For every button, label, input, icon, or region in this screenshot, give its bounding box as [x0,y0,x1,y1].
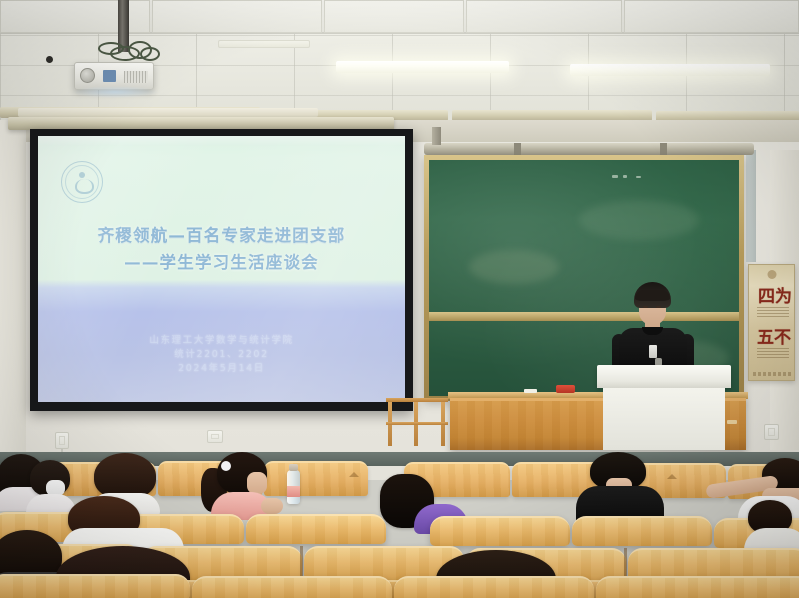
light-switch [764,424,779,440]
bench-desk [596,576,799,598]
stage-railing [386,398,448,446]
scroll-text-lines [757,307,789,308]
bench-desk [0,574,190,598]
slide-class-line: 统计2201、2202 [38,348,405,362]
presenter-eye [656,306,661,308]
bench-gap [300,546,303,580]
scroll-footer-text [753,372,792,376]
slide-org-line: 山东理工大学数学与统计学院 [38,334,405,348]
audience-seating-area [0,452,799,598]
scroll-text-lines [757,348,789,349]
shirt-graphic [649,345,657,358]
projector-badge [103,70,116,82]
student-black-tee [570,452,668,524]
calligraphy-wall-scroll: 四为 五不 [748,264,795,381]
university-seal-icon [61,161,103,203]
screen-housing-top [18,108,318,117]
duct-band [660,143,667,155]
wall-plate [207,430,223,443]
left-side-wall [0,120,26,460]
slide-date-line: 2024年5月14日 [38,362,405,376]
chalk-mark [612,175,618,178]
duct-drop-pipe [432,127,441,145]
student-pink-tank-bottle [205,452,283,518]
chalk-smudge [579,200,699,240]
chalk-smudge [469,250,559,284]
projector-adjust-knob [46,56,53,63]
slide-surface: 齐稷领航—百名专家走进团支部 ——学生学习生活座谈会 山东理工大学数学与统计学院… [38,136,405,402]
ceiling-panel [152,0,322,33]
duct-band [514,143,521,155]
presenter-eye [643,306,648,308]
ceiling-panel [466,0,622,33]
student-presenter [608,282,698,374]
slide-title: 齐稷领航—百名专家走进团支部 [38,222,405,246]
chalk-mark [636,176,641,178]
bench-desk [430,516,570,546]
bench-desk [192,576,392,598]
presenter-fringe [635,290,670,301]
recessed-fluorescent-light [570,64,770,76]
classroom-photo: 齐稷领航—百名专家走进团支部 ——学生学习生活座谈会 山东理工大学数学与统计学院… [0,0,799,598]
board-eraser [556,385,575,393]
projection-screen: 齐稷领航—百名专家走进团支部 ——学生学习生活座谈会 山东理工大学数学与统计学院… [30,129,413,411]
slide-footer: 山东理工大学数学与统计学院 统计2201、2202 2024年5月14日 [38,334,405,376]
chalk-mark [623,175,627,178]
podium-top-surface [597,365,731,388]
bench-desk [394,576,594,598]
recessed-fluorescent-light [336,61,509,73]
lectern-podium [603,388,725,450]
scroll-char-bottom: 五不 [757,323,791,348]
projector-vent [124,71,148,83]
projector-lens-icon [80,68,95,83]
chalk-stick [524,389,537,393]
wall-column-edge [746,150,756,262]
bench-desk [572,516,712,546]
ceiling-panel [324,0,464,33]
seat-notch [349,472,359,477]
projector-light-glow [72,86,158,98]
bench-desk [246,514,386,544]
ceiling-panel [624,0,799,33]
scroll-emblem-icon [767,270,776,279]
power-outlet [55,432,69,449]
scroll-char-top: 四为 [758,282,792,307]
seat-notch [667,474,677,479]
wall-duct-pipe [424,143,754,155]
desk-handle [727,420,737,424]
slide-subtitle: ——学生学习生活座谈会 [38,249,405,273]
ceiling-light-dim [218,40,310,48]
slide-top-band [38,136,405,146]
